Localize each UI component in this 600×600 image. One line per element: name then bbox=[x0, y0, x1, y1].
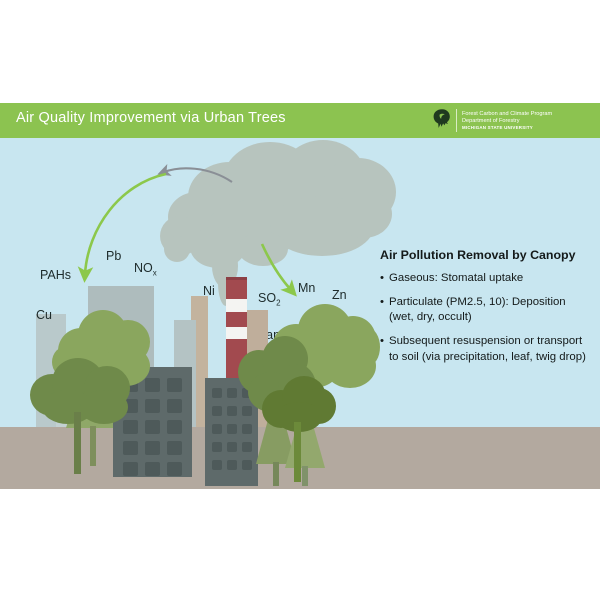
info-bullet-1: • Gaseous: Stomatal uptake bbox=[380, 271, 592, 286]
info-panel-title: Air Pollution Removal by Canopy bbox=[380, 248, 592, 262]
spartan-helmet-icon bbox=[432, 108, 452, 133]
pollutant-label-so2: SO2 bbox=[258, 291, 281, 308]
pollutant-label-pb: Pb bbox=[106, 249, 121, 263]
bullet-marker: • bbox=[380, 334, 389, 364]
arrow-uptake-left-green bbox=[85, 174, 166, 274]
conifer-trunk-mid bbox=[273, 462, 279, 486]
logo-line-3: MICHIGAN STATE UNIVERSITY bbox=[462, 125, 552, 130]
msu-logo-block: Forest Carbon and Climate Program Depart… bbox=[432, 106, 592, 135]
pollutant-label-nox: NOx bbox=[134, 261, 157, 278]
logo-text: Forest Carbon and Climate Program Depart… bbox=[462, 111, 552, 130]
info-bullet-1-text: Gaseous: Stomatal uptake bbox=[389, 271, 592, 286]
infographic-canvas: Air Quality Improvement via Urban Trees … bbox=[0, 0, 600, 600]
bullet-marker: • bbox=[380, 271, 389, 286]
conifer-trunk-right bbox=[302, 466, 308, 486]
logo-line-2: Department of Forestry bbox=[462, 118, 552, 125]
info-panel: Air Pollution Removal by Canopy • Gaseou… bbox=[380, 248, 592, 374]
info-bullet-3: • Subsequent resuspension or transport t… bbox=[380, 334, 592, 364]
pollutant-label-ni: Ni bbox=[203, 284, 215, 298]
info-bullet-3-text: Subsequent resuspension or transport to … bbox=[389, 334, 592, 364]
smoke-cloud bbox=[160, 140, 400, 268]
tree-trunk-left-front bbox=[74, 412, 81, 474]
logo-divider bbox=[456, 109, 457, 132]
pollutant-label-zn: Zn bbox=[332, 288, 347, 302]
pollutant-label-cu: Cu bbox=[36, 308, 52, 322]
page-title: Air Quality Improvement via Urban Trees bbox=[16, 110, 286, 126]
tree-trunk-right-front bbox=[294, 422, 301, 482]
info-bullet-2: • Particulate (PM2.5, 10): Deposition (w… bbox=[380, 295, 592, 325]
pollutant-label-pahs: PAHs bbox=[40, 268, 71, 282]
bullet-marker: • bbox=[380, 295, 389, 325]
pollutant-label-mn: Mn bbox=[298, 281, 315, 295]
conifer-trunk-left bbox=[90, 426, 96, 466]
info-bullet-2-text: Particulate (PM2.5, 10): Deposition (wet… bbox=[389, 295, 592, 325]
logo-line-1: Forest Carbon and Climate Program bbox=[462, 111, 552, 118]
